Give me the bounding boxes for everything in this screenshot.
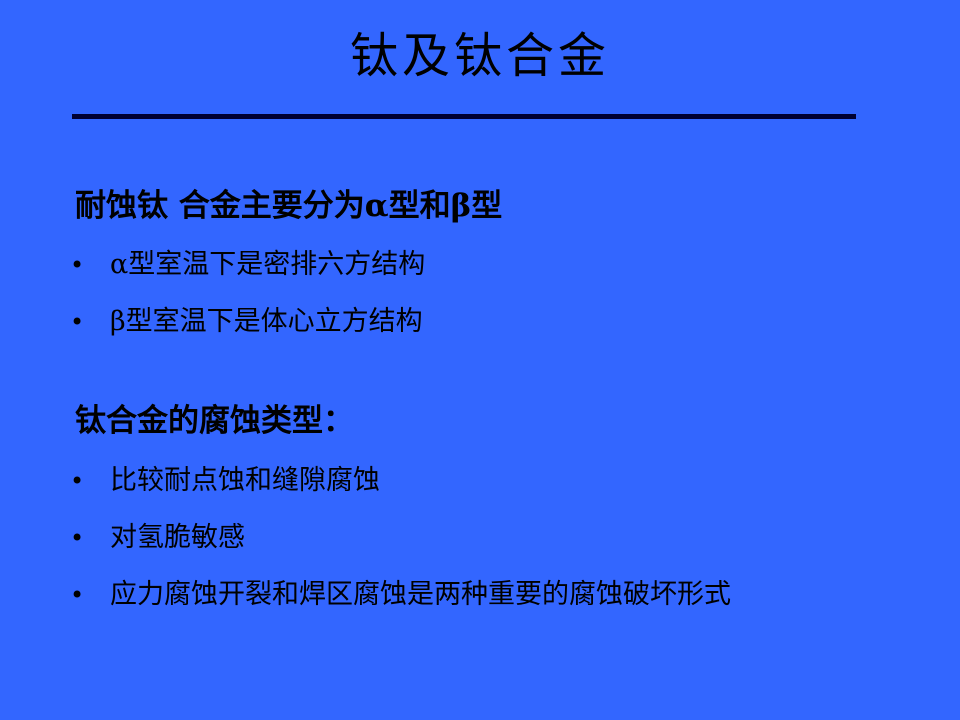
presentation-slide: 钛及钛合金 耐蚀钛 合金主要分为α型和β型 • α型室温下是密排六方结构 • β… <box>0 0 960 720</box>
list-item: • 对氢脆敏感 <box>70 521 245 555</box>
bullet-marker-icon: • <box>70 578 110 612</box>
section-heading-corrosion-types: 钛合金的腐蚀类型： <box>75 403 354 439</box>
section-heading-alloy-types: 耐蚀钛 合金主要分为α型和β型 <box>75 188 502 224</box>
list-item-label: 应力腐蚀开裂和焊区腐蚀是两种重要的腐蚀破坏形式 <box>110 578 731 612</box>
bullet-marker-icon: • <box>70 305 110 339</box>
bullet-marker-icon: • <box>70 521 110 555</box>
list-item-label: α型室温下是密排六方结构 <box>110 248 425 282</box>
bullet-marker-icon: • <box>70 248 110 282</box>
slide-body: 耐蚀钛 合金主要分为α型和β型 • α型室温下是密排六方结构 • β型室温下是体… <box>0 0 960 720</box>
list-item-label: 比较耐点蚀和缝隙腐蚀 <box>110 464 380 498</box>
list-item-label: 对氢脆敏感 <box>110 521 245 555</box>
list-item: • 比较耐点蚀和缝隙腐蚀 <box>70 464 380 498</box>
bullet-marker-icon: • <box>70 464 110 498</box>
list-item: • 应力腐蚀开裂和焊区腐蚀是两种重要的腐蚀破坏形式 <box>70 578 731 612</box>
list-item-label: β型室温下是体心立方结构 <box>110 305 423 339</box>
list-item: • α型室温下是密排六方结构 <box>70 248 425 282</box>
list-item: • β型室温下是体心立方结构 <box>70 305 423 339</box>
